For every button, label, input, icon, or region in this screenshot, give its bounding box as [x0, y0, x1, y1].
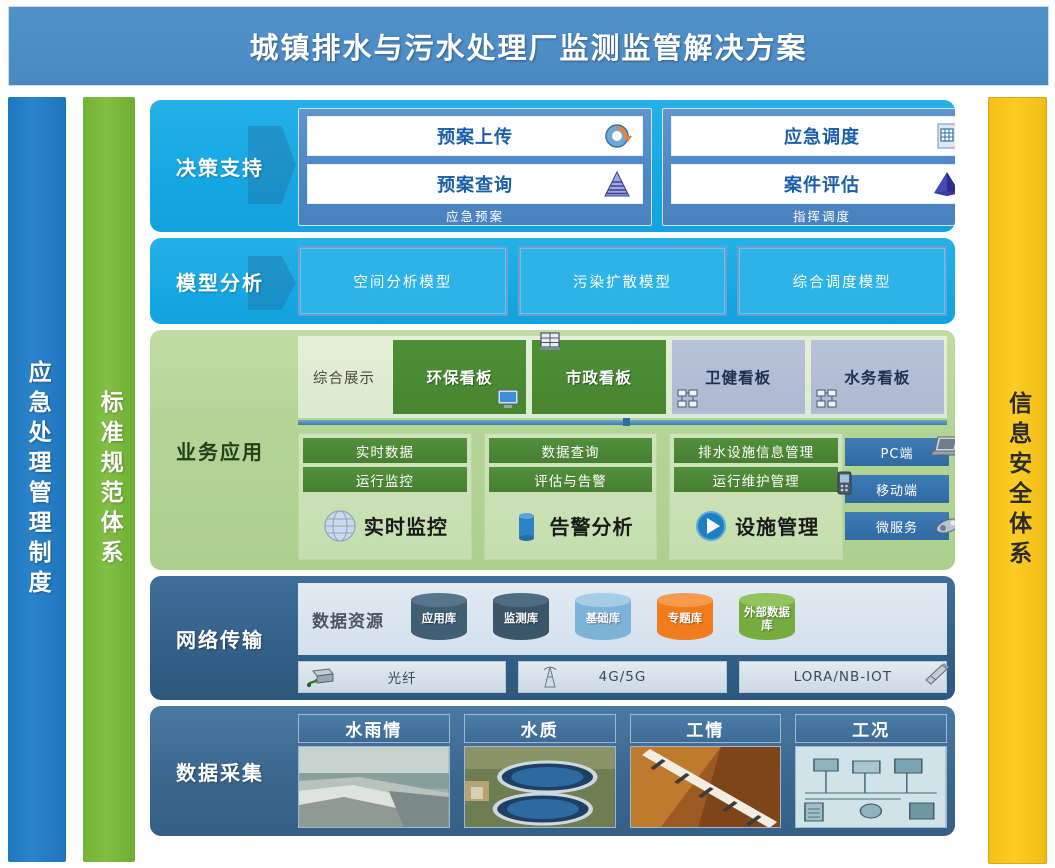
- dashboard-card-environment[interactable]: 环保看板: [393, 340, 526, 414]
- sidebar-standards-system-label: 标准规范体系: [97, 390, 121, 570]
- business-foot-alarm-analysis-label: 告警分析: [550, 511, 634, 540]
- terminal-mobile-label: 移动端: [876, 480, 918, 499]
- band-data-acquisition-body: 水雨情 水质: [290, 706, 955, 836]
- sidebar-standards-system: 标准规范体系: [83, 97, 135, 862]
- sidebar-emergency-management-label: 应急处理管理制度: [25, 360, 49, 600]
- database-thematic[interactable]: 专题库: [657, 593, 713, 645]
- decision-item-emergency-dispatch-label: 应急调度: [784, 123, 860, 149]
- model-box-integrated-dispatch[interactable]: 综合调度模型: [737, 246, 947, 316]
- band-network-transmission-label: 网络传输: [150, 576, 290, 700]
- sidebar-information-security: 信息安全体系: [988, 97, 1047, 864]
- data-card-hydrology[interactable]: 水雨情: [298, 714, 450, 828]
- data-card-row: 水雨情 水质: [298, 714, 947, 828]
- band-network-transmission-body: 数据资源 应用库 监测库 基础库: [290, 576, 955, 700]
- data-card-water-quality[interactable]: 水质: [464, 714, 616, 828]
- database-basic-label: 基础库: [575, 593, 631, 645]
- decision-group-emergency-plan-items: 预案上传 预案查询: [299, 109, 651, 206]
- dashboard-strip-title: 综合展示: [298, 336, 390, 418]
- network-link-4g5g-label: 4G/5G: [599, 669, 647, 685]
- decision-item-plan-query-label: 预案查询: [437, 171, 513, 197]
- page-title-bar: 城镇排水与污水处理厂监测监管解决方案: [8, 6, 1049, 86]
- architecture-stack: 决策支持 预案上传: [150, 100, 955, 862]
- business-foot-realtime-monitoring-label: 实时监控: [364, 511, 448, 540]
- decision-group-command-dispatch-items: 应急调度 案件评: [663, 109, 955, 206]
- database-icon: [508, 508, 544, 544]
- play-circle-icon: [693, 508, 729, 544]
- terminal-column: PC端 移动端: [845, 438, 949, 540]
- mobile-phone-icon: [829, 470, 859, 496]
- decision-group-emergency-plan-caption: 应急预案: [299, 206, 651, 225]
- decision-item-plan-upload-label: 预案上传: [437, 123, 513, 149]
- business-foot-facility-management-label: 设施管理: [735, 511, 819, 540]
- dashboard-card-environment-label: 环保看板: [427, 366, 493, 388]
- database-monitoring[interactable]: 监测库: [493, 593, 549, 645]
- database-external-label: 外部数据库: [739, 593, 795, 645]
- decision-item-plan-query[interactable]: 预案查询: [307, 164, 643, 204]
- business-tag-assessment-alarm[interactable]: 评估与告警: [489, 467, 653, 492]
- decision-group-command-dispatch-caption: 指挥调度: [663, 206, 955, 225]
- business-column-monitoring: 实时数据 运行监控 实时监控: [298, 433, 472, 560]
- database-external[interactable]: 外部数据库: [739, 593, 795, 645]
- model-box-pollution-diffusion[interactable]: 污染扩散模型: [518, 246, 728, 316]
- business-foot-facility-management[interactable]: 设施管理: [674, 496, 838, 555]
- dashboard-divider-marker: [623, 418, 630, 426]
- terminal-microservice-label: 微服务: [876, 517, 918, 536]
- data-resource-strip: 数据资源 应用库 监测库 基础库: [298, 583, 947, 655]
- business-column-row: 实时数据 运行监控 实时监控: [298, 433, 843, 560]
- band-data-acquisition-label: 数据采集: [150, 706, 290, 836]
- dashboard-card-municipal[interactable]: 市政看板: [532, 340, 665, 414]
- terminal-mobile[interactable]: 移动端: [845, 475, 949, 503]
- model-box-spatial[interactable]: 空间分析模型: [298, 246, 508, 316]
- dashboard-card-water-affairs-label: 水务看板: [844, 366, 910, 388]
- monitor-icon: [496, 388, 520, 410]
- dashboard-card-health[interactable]: 卫健看板: [672, 340, 805, 414]
- band-decision-support-body: 预案上传 预案查询: [290, 100, 955, 232]
- buried-pipeline-photo: [630, 746, 782, 828]
- dashboard-strip: 综合展示 环保看板 市政看板: [298, 336, 947, 418]
- business-tag-drainage-facility-info[interactable]: 排水设施信息管理: [674, 438, 838, 463]
- business-column-alarm: 数据查询 评估与告警 告警分析: [484, 433, 658, 560]
- sidebar-emergency-management: 应急处理管理制度: [8, 97, 66, 862]
- decision-item-case-assessment-label: 案件评估: [784, 171, 860, 197]
- business-column-facility: 排水设施信息管理 运行维护管理 设施管理: [669, 433, 843, 560]
- clarifier-tanks-photo: [464, 746, 616, 828]
- network-link-lora-nbiot[interactable]: LORA/NB-IOT: [739, 661, 947, 693]
- handheld-device-icon: [933, 512, 955, 538]
- striped-pyramid-icon: [602, 169, 632, 199]
- fiber-connector-icon: [307, 665, 337, 689]
- band-business-application-label: 业务应用: [150, 330, 290, 570]
- laptop-icon: [931, 434, 955, 460]
- band-model-analysis-label: 模型分析: [150, 238, 290, 324]
- decision-item-case-assessment[interactable]: 案件评估: [671, 164, 955, 204]
- database-basic[interactable]: 基础库: [575, 593, 631, 645]
- antenna-icon: [922, 662, 952, 686]
- database-application[interactable]: 应用库: [411, 593, 467, 645]
- database-thematic-label: 专题库: [657, 593, 713, 645]
- business-tag-data-query[interactable]: 数据查询: [489, 438, 653, 463]
- flowchart-icon: [815, 388, 839, 410]
- dashboard-card-health-label: 卫健看板: [705, 366, 771, 388]
- terminal-microservice[interactable]: 微服务: [845, 512, 949, 540]
- band-decision-support: 决策支持 预案上传: [150, 100, 955, 232]
- network-link-4g5g[interactable]: 4G/5G: [518, 661, 726, 693]
- canal-embankment-photo: [298, 746, 450, 828]
- globe-icon: [322, 508, 358, 544]
- business-tag-operation-maintenance[interactable]: 运行维护管理: [674, 467, 838, 492]
- grid-table-icon: [932, 121, 955, 151]
- network-link-lora-nbiot-label: LORA/NB-IOT: [794, 669, 892, 685]
- band-network-transmission: 网络传输 数据资源 应用库 监测库 基础库: [150, 576, 955, 700]
- band-decision-support-label: 决策支持: [150, 100, 290, 232]
- decision-item-plan-upload[interactable]: 预案上传: [307, 116, 643, 156]
- terminal-pc-label: PC端: [881, 443, 914, 462]
- data-card-operating-condition-label: 工况: [795, 714, 947, 743]
- terminal-pc[interactable]: PC端: [845, 438, 949, 466]
- band-model-analysis: 模型分析 空间分析模型 污染扩散模型 综合调度模型: [150, 238, 955, 324]
- decision-group-emergency-plan: 预案上传 预案查询: [298, 108, 652, 226]
- building-icon: [538, 330, 562, 352]
- network-link-fiber-label: 光纤: [388, 667, 417, 687]
- business-foot-realtime-monitoring[interactable]: 实时监控: [303, 496, 467, 555]
- data-card-operating-condition[interactable]: 工况: [795, 714, 947, 828]
- model-box-row: 空间分析模型 污染扩散模型 综合调度模型: [298, 246, 947, 316]
- data-card-engineering-label: 工情: [630, 714, 782, 743]
- data-card-hydrology-label: 水雨情: [298, 714, 450, 743]
- database-monitoring-label: 监测库: [493, 593, 549, 645]
- data-resource-title: 数据资源: [298, 607, 398, 632]
- database-application-label: 应用库: [411, 593, 467, 645]
- band-data-acquisition: 数据采集 水雨情: [150, 706, 955, 836]
- band-business-application-body: 综合展示 环保看板 市政看板: [290, 330, 955, 570]
- business-foot-alarm-analysis[interactable]: 告警分析: [489, 496, 653, 555]
- page-title: 城镇排水与污水处理厂监测监管解决方案: [249, 25, 807, 67]
- data-card-engineering[interactable]: 工情: [630, 714, 782, 828]
- band-business-application: 业务应用 综合展示 环保看板 市政看板: [150, 330, 955, 570]
- data-card-water-quality-label: 水质: [464, 714, 616, 743]
- solid-pyramid-icon: [932, 169, 955, 199]
- cell-tower-icon: [535, 665, 565, 689]
- band-model-analysis-body: 空间分析模型 污染扩散模型 综合调度模型: [290, 238, 955, 324]
- flowchart-icon: [676, 388, 700, 410]
- sidebar-information-security-label: 信息安全体系: [1005, 391, 1029, 571]
- network-link-fiber[interactable]: 光纤: [298, 661, 506, 693]
- decision-group-command-dispatch: 应急调度 案件评: [662, 108, 955, 226]
- business-tag-realtime-data[interactable]: 实时数据: [303, 438, 467, 463]
- refresh-cycle-icon: [602, 121, 632, 151]
- dashboard-card-water-affairs[interactable]: 水务看板: [811, 340, 944, 414]
- decision-item-emergency-dispatch[interactable]: 应急调度: [671, 116, 955, 156]
- business-tag-operation-monitoring[interactable]: 运行监控: [303, 467, 467, 492]
- network-link-row: 光纤 4G/5G LORA/NB-IOT: [298, 661, 947, 693]
- scada-schematic-photo: [795, 746, 947, 828]
- dashboard-card-municipal-label: 市政看板: [566, 366, 632, 388]
